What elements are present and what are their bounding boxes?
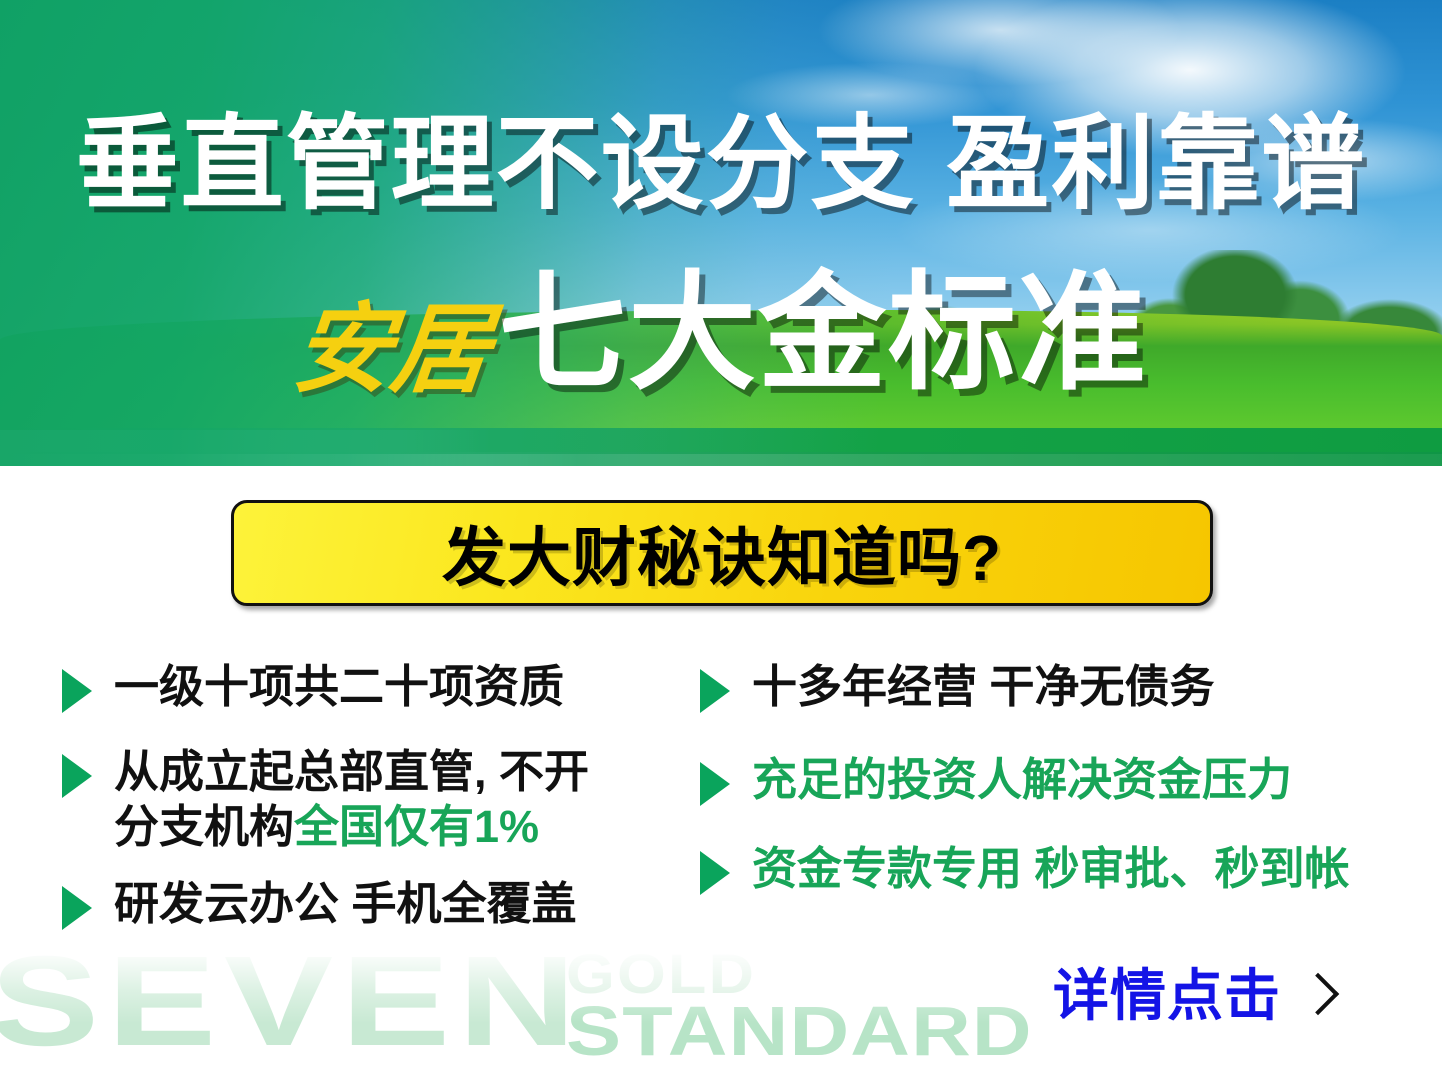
details-cta-link[interactable]: 详情点击	[1053, 968, 1333, 1024]
details-cta-label: 详情点击	[1053, 968, 1281, 1024]
list-item: 研发云办公 手机全覆盖	[62, 877, 702, 932]
triangle-right-icon	[62, 886, 92, 930]
feature-label: 十多年经营 干净无债务	[752, 660, 1215, 715]
feature-label: 充足的投资人解决资金压力	[752, 753, 1292, 808]
feature-label: 研发云办公 手机全覆盖	[114, 877, 577, 932]
list-item: 一级十项共二十项资质	[62, 660, 702, 715]
feature-line-1: 从成立起总部直管, 不开	[114, 746, 589, 797]
features-left-column: 一级十项共二十项资质 从成立起总部直管, 不开分支机构全国仅有1% 研发云办公 …	[62, 660, 702, 958]
feature-label: 一级十项共二十项资质	[114, 660, 564, 715]
features-right-column: 十多年经营 干净无债务 充足的投资人解决资金压力 资金专款专用 秒审批、秒到帐	[700, 660, 1400, 923]
triangle-right-icon	[62, 754, 92, 798]
list-item: 资金专款专用 秒审批、秒到帐	[700, 842, 1400, 897]
triangle-right-icon	[700, 669, 730, 713]
promo-banner-page: 垂直管理不设分支 盈利靠谱 安居七大金标准 发大财秘诀知道吗? 一级十项共二十项…	[0, 0, 1442, 1066]
hero-standard-text: 七大金标准	[498, 270, 1148, 398]
watermark-standards: STANDARDS	[566, 996, 1030, 1066]
hero-subheadline: 安居七大金标准	[0, 270, 1442, 398]
yellow-question-banner[interactable]: 发大财秘诀知道吗?	[231, 500, 1213, 606]
triangle-right-icon	[700, 851, 730, 895]
feature-label-multiline: 从成立起总部直管, 不开分支机构全国仅有1%	[114, 745, 589, 855]
list-item: 从成立起总部直管, 不开分支机构全国仅有1%	[62, 745, 702, 855]
list-item: 充足的投资人解决资金压力	[700, 753, 1400, 808]
hero-brand-text: 安居	[289, 300, 495, 398]
feature-label: 资金专款专用 秒审批、秒到帐	[752, 842, 1350, 897]
list-item: 十多年经营 干净无债务	[700, 660, 1400, 715]
feature-line-2-black: 分支机构	[114, 801, 294, 852]
hero-headline: 垂直管理不设分支 盈利靠谱	[0, 112, 1442, 215]
triangle-right-icon	[700, 762, 730, 806]
hero-section: 垂直管理不设分支 盈利靠谱 安居七大金标准	[0, 0, 1442, 466]
features-section: 一级十项共二十项资质 从成立起总部直管, 不开分支机构全国仅有1% 研发云办公 …	[0, 660, 1442, 990]
chevron-right-icon	[1297, 973, 1339, 1015]
feature-line-2-highlight: 全国仅有1%	[294, 801, 539, 852]
yellow-banner-label: 发大财秘诀知道吗?	[442, 507, 1002, 599]
triangle-right-icon	[62, 669, 92, 713]
